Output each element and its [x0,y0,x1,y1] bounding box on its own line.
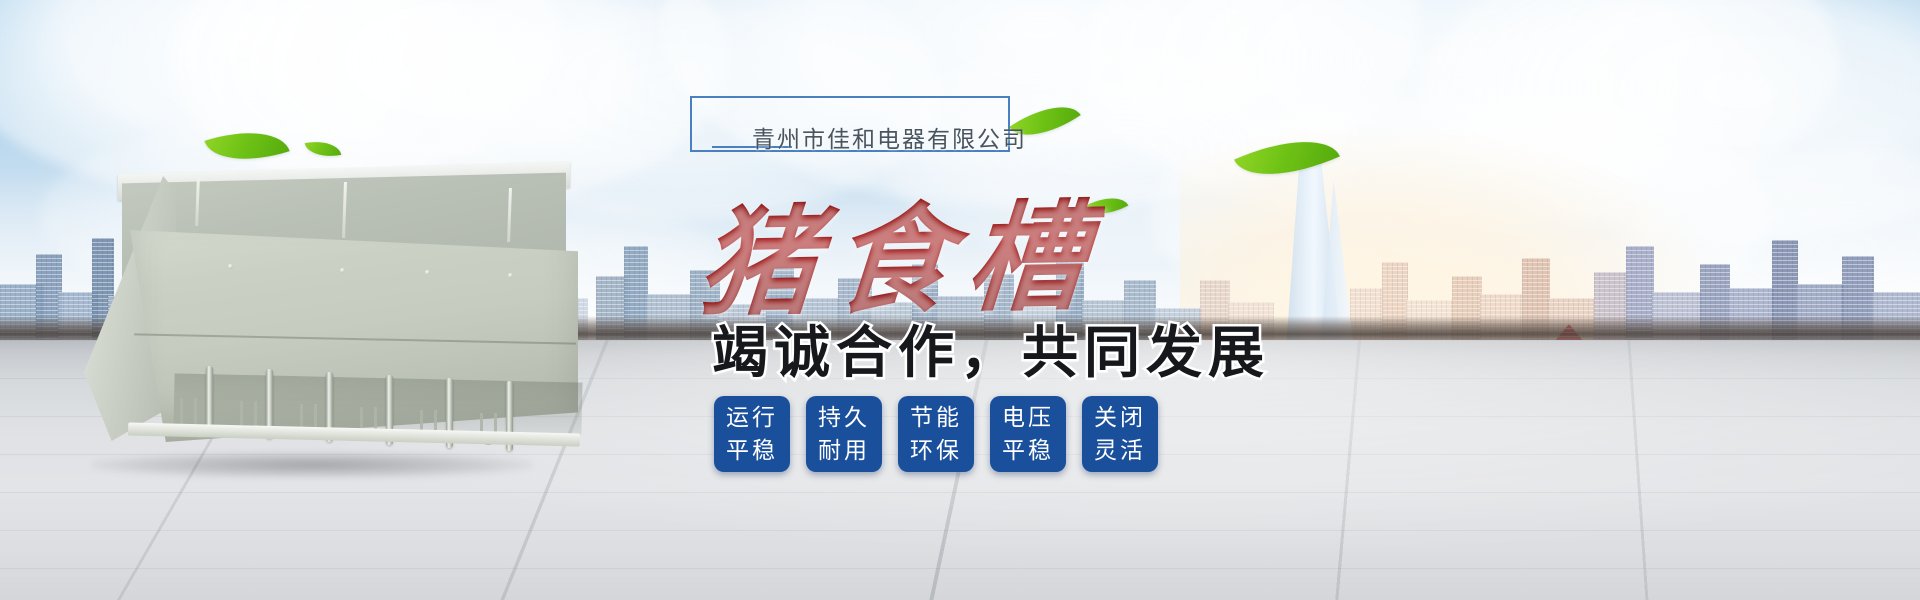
headline-block: 青州市佳和电器有限公司 猪食槽 竭诚合作，共同发展 运行 平稳 持久 耐用 节能… [690,96,1410,152]
badge-line-2: 平稳 [726,434,778,467]
feature-badge[interactable]: 关闭 灵活 [1082,396,1158,472]
badge-line-1: 持久 [818,401,870,434]
feature-badge[interactable]: 电压 平稳 [990,396,1066,472]
badge-line-1: 运行 [726,401,778,434]
badge-line-2: 耐用 [818,434,870,467]
product-image-trough [78,160,588,480]
feature-badge[interactable]: 持久 耐用 [806,396,882,472]
badge-line-2: 环保 [910,434,962,467]
badge-line-1: 电压 [1002,401,1054,434]
headline-subtitle: 竭诚合作，共同发展 [712,308,1270,389]
company-name: 青州市佳和电器有限公司 [752,120,1027,154]
badge-line-1: 节能 [910,401,962,434]
feature-badge[interactable]: 节能 环保 [898,396,974,472]
feature-badge[interactable]: 运行 平稳 [714,396,790,472]
badge-line-2: 灵活 [1094,434,1146,467]
badge-line-2: 平稳 [1002,434,1054,467]
feature-badge-list: 运行 平稳 持久 耐用 节能 环保 电压 平稳 关闭 灵活 [714,396,1158,472]
promo-banner: 青州市佳和电器有限公司 猪食槽 竭诚合作，共同发展 运行 平稳 持久 耐用 节能… [0,0,1920,600]
badge-line-1: 关闭 [1094,401,1146,434]
